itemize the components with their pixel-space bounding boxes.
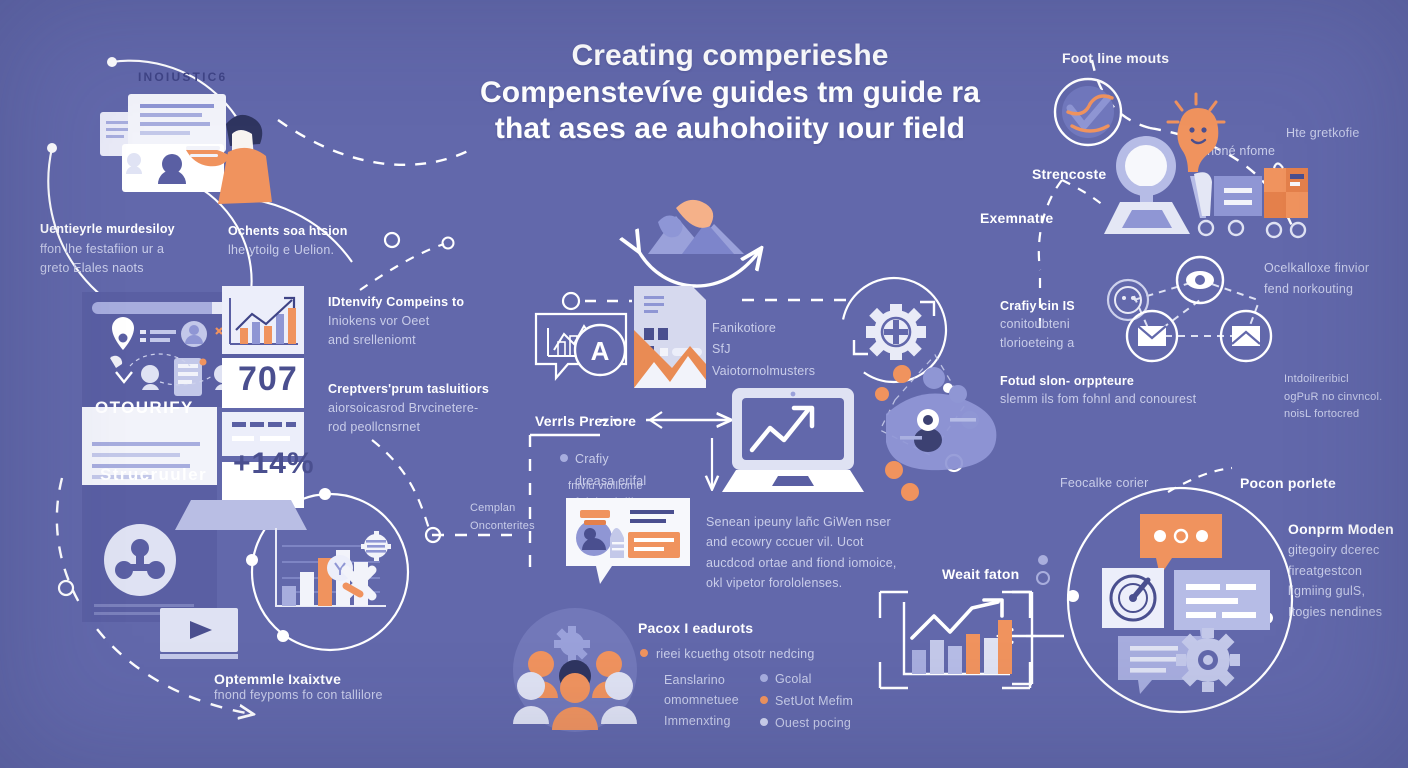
bullet-spacer-icon	[560, 476, 568, 484]
bottom-left-caption-body: fnond feypoms fo con tallilore	[214, 686, 383, 705]
laptop-growth-illustration	[722, 388, 870, 498]
poster-title: Creating comperieshe Compenstevíve guide…	[470, 38, 990, 148]
bullet-dot-icon	[640, 649, 648, 657]
center-document-card	[634, 286, 706, 388]
gear-lock-badge	[858, 298, 934, 370]
top-left-person-document-illustration	[100, 88, 320, 218]
left-panel-stat-plus14: +14%	[233, 447, 315, 481]
right-block-11-label: Pocon porlete	[1240, 473, 1336, 494]
left-block-4-heading: Creptvers'prum tasluitiors	[328, 380, 489, 399]
title-line-2: Compenstevíve guides tm guide ra	[470, 75, 990, 112]
bottom-center-chart-caption: Weait faton	[942, 564, 1019, 585]
right-block-10-label: Feocalke corier	[1060, 474, 1148, 493]
left-block-2-heading: Ochents soa htsion	[228, 222, 348, 241]
left-block-4-body: aiorsoicasrod Brvcinetere- rod peollcnsr…	[328, 399, 478, 437]
delivery-cart-boxes-icon	[1190, 152, 1308, 242]
list-item: Ouest pocing	[760, 714, 890, 733]
right-block-6-body: conitoubteni tlorioeteing a	[1000, 315, 1074, 353]
growth-bar-chart	[880, 588, 1030, 692]
network-data-blob	[880, 380, 1008, 488]
center-list-heading: Verrls Preziore	[535, 411, 636, 432]
center-speech-bubble-card	[566, 498, 690, 586]
center-list-item-0: Crafiy	[575, 450, 609, 469]
center-facts-right-column: Gcolal SetUot Mefim Ouest pocing	[760, 670, 890, 735]
bullet-dot-icon	[560, 454, 568, 462]
bullet-dot-icon	[760, 674, 768, 682]
left-panel-word-mid: Strucruuler	[100, 465, 207, 485]
email-network-icons	[1100, 252, 1282, 364]
center-chart-speech-badge: A	[534, 312, 634, 388]
center-facts-heading: Pacox I eadurots	[638, 618, 753, 639]
left-block-1-body: ffon lhe festafiion ur a greto Elales na…	[40, 240, 164, 278]
video-player-card[interactable]	[160, 608, 238, 660]
right-block-6-heading: Crafiy cin IS	[1000, 297, 1075, 316]
svg-text:A: A	[591, 336, 610, 366]
left-panel-stat-707: 707	[238, 360, 298, 399]
left-block-3-heading: IDtenvify Compeins to	[328, 293, 464, 312]
left-panel-word-top: OTOURIFY	[95, 398, 194, 418]
bullet-dot-icon	[760, 718, 768, 726]
center-facts-left-column: Eanslarino omomnetuee Immenxting	[664, 670, 739, 731]
right-block-12-body: gitegoiry dcerec fireatgestcon ligmiing …	[1288, 540, 1382, 622]
right-block-5-label: Hte gretkofie	[1286, 124, 1359, 143]
center-facts-right-1: SetUot Mefim	[775, 692, 853, 711]
chat-gauge-gear-cluster	[1102, 514, 1278, 692]
right-block-12-heading: Oonprm Moden	[1288, 519, 1394, 540]
center-paragraph: Senean ipeuny lañc GiWen nser and ecowry…	[706, 512, 897, 593]
center-facts-right-0: Gcolal	[775, 670, 812, 689]
top-left-doc-caption: INOIUSTIC6	[138, 70, 227, 84]
center-speech-caption: fnivlu violliome	[568, 478, 643, 495]
right-block-3-label: Exemnatre	[980, 208, 1053, 229]
center-facts-right-2: Ouest pocing	[775, 714, 851, 733]
center-facts-lead-row: rieei kcuethg otsotr nedcing	[640, 645, 814, 664]
team-group-illustration	[510, 604, 640, 730]
right-block-1-label: Foot line mouts	[1062, 48, 1169, 69]
title-line-1: Creating comperieshe	[470, 38, 990, 75]
right-block-7-body: slemm ils fom fohnl and conourest	[1000, 390, 1196, 409]
bullet-dot-icon	[760, 696, 768, 704]
right-block-7-heading: Fotud slon- orppteure	[1000, 372, 1134, 391]
right-block-9-label: Intdoilreribicl ogPuR no cinvncol. noisL…	[1284, 371, 1382, 424]
left-dashed-note: Cemplan Onconterites	[470, 500, 535, 535]
center-document-note: Fanikotiore SfJ Vaiotornolmusters	[712, 318, 815, 382]
left-block-3-body: Iniokens vor Oeet and srelleniomt	[328, 312, 429, 350]
left-block-1-heading: Uentieyrle murdesiloy	[40, 220, 175, 239]
left-block-2-body: lhe ytoilg e Uelion.	[228, 241, 334, 260]
title-line-3: that ases ae auhohoiity ıour field	[470, 111, 990, 148]
magnifier-podium-icon	[1094, 130, 1200, 242]
list-item: Crafiy	[560, 450, 700, 469]
mountain-illustration	[648, 196, 758, 258]
list-item: SetUot Mefim	[760, 692, 890, 711]
bottom-left-analytics-chart	[268, 528, 396, 620]
list-item: Gcolal	[760, 670, 890, 689]
infographic-poster: Creating comperieshe Compenstevíve guide…	[0, 0, 1408, 768]
center-facts-lead: rieei kcuethg otsotr nedcing	[656, 645, 814, 664]
